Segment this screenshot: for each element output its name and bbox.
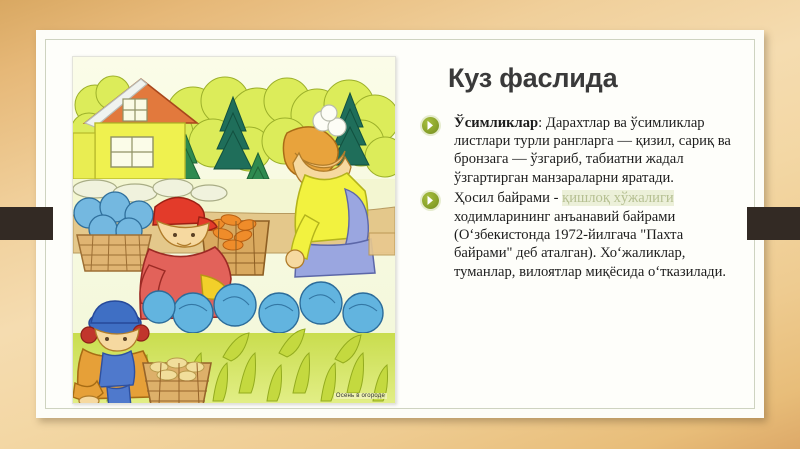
right-decorative-bar [747, 207, 800, 240]
list-item: Ҳосил байрами - қишлоқ хўжалиги ходимлар… [416, 189, 744, 281]
chevron-right-circle-icon [422, 117, 439, 134]
content-column: Куз фаслида Ўсимликлар: Дарахтлар ва ўси… [416, 56, 744, 396]
picture-caption: Осень в огороде [334, 393, 387, 399]
bullet-2-text-after: ходимларининг анъанавий байрами (Оʻзбеки… [454, 209, 726, 280]
bullet-2-text-before: Ҳосил байрами - [454, 190, 562, 206]
slide-card: Осень в огороде Куз фаслида Ўсимликлар: … [36, 30, 764, 418]
list-item: Ўсимликлар: Дарахтлар ва ўсимликлар лист… [416, 114, 744, 188]
left-decorative-bar [0, 207, 53, 240]
bullet-list: Ўсимликлар: Дарахтлар ва ўсимликлар лист… [416, 114, 744, 281]
slide-card-inner-border: Осень в огороде Куз фаслида Ўсимликлар: … [45, 39, 755, 409]
agriculture-hyperlink[interactable]: қишлоқ хўжалиги [562, 190, 674, 206]
picture-frame[interactable]: Осень в огороде [72, 56, 396, 404]
bullet-1-lead: Ўсимликлар [454, 115, 538, 131]
page-title: Куз фаслида [448, 64, 744, 94]
chevron-right-circle-icon [422, 192, 439, 209]
autumn-garden-harvest-illustration [73, 57, 395, 403]
